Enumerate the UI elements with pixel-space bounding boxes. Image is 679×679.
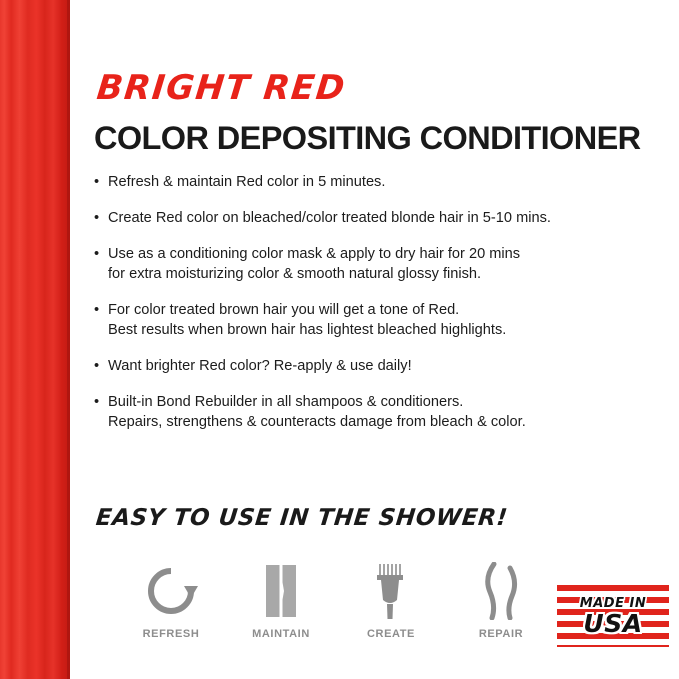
- bullet-dot-icon: •: [94, 392, 99, 412]
- bullet-line: for extra moisturizing color & smooth na…: [108, 264, 669, 284]
- usage-steps-row: REFRESH MAINTAIN: [94, 560, 534, 660]
- tint-brush-icon: [336, 560, 446, 622]
- list-item: • Create Red color on bleached/color tre…: [94, 208, 669, 228]
- usage-step-create: CREATE: [336, 560, 446, 640]
- list-item: • For color treated brown hair you will …: [94, 300, 669, 340]
- left-red-stripe-decoration: [0, 0, 70, 679]
- bullet-line: Use as a conditioning color mask & apply…: [108, 244, 669, 264]
- bullet-line: Built-in Bond Rebuilder in all shampoos …: [108, 392, 669, 412]
- usage-step-maintain: MAINTAIN: [226, 560, 336, 640]
- usage-step-label: REFRESH: [116, 628, 226, 640]
- product-info-panel: BRIGHT RED COLOR DEPOSITING CONDITIONER …: [0, 0, 679, 679]
- maintain-bottle-icon: [226, 560, 336, 622]
- bullet-line: For color treated brown hair you will ge…: [108, 300, 669, 320]
- feature-bullet-list: • Refresh & maintain Red color in 5 minu…: [94, 172, 669, 448]
- usage-step-label: MAINTAIN: [226, 628, 336, 640]
- bullet-dot-icon: •: [94, 208, 99, 228]
- bullet-line: Refresh & maintain Red color in 5 minute…: [108, 172, 669, 192]
- list-item: • Built-in Bond Rebuilder in all shampoo…: [94, 392, 669, 432]
- refresh-arrow-icon: [116, 560, 226, 622]
- bullet-dot-icon: •: [94, 172, 99, 192]
- bullet-dot-icon: •: [94, 356, 99, 376]
- list-item: • Want brighter Red color? Re-apply & us…: [94, 356, 669, 376]
- bullet-line: Want brighter Red color? Re-apply & use …: [108, 356, 669, 376]
- made-in-usa-badge: MADE IN USA: [557, 585, 669, 647]
- list-item: • Use as a conditioning color mask & app…: [94, 244, 669, 284]
- content-area: BRIGHT RED COLOR DEPOSITING CONDITIONER …: [94, 0, 679, 679]
- bullet-dot-icon: •: [94, 300, 99, 320]
- usa-flag-stripes-icon: [557, 585, 669, 647]
- bullet-dot-icon: •: [94, 244, 99, 264]
- bullet-line: Repairs, strengthens & counteracts damag…: [108, 412, 669, 432]
- usage-step-label: CREATE: [336, 628, 446, 640]
- usage-step-repair: REPAIR: [446, 560, 556, 640]
- product-title-main: COLOR DEPOSITING CONDITIONER: [94, 120, 641, 157]
- usage-step-label: REPAIR: [446, 628, 556, 640]
- bullet-line: Create Red color on bleached/color treat…: [108, 208, 669, 228]
- repair-hair-strand-icon: [446, 560, 556, 622]
- bullet-line: Best results when brown hair has lightes…: [108, 320, 669, 340]
- list-item: • Refresh & maintain Red color in 5 minu…: [94, 172, 669, 192]
- product-title-accent: BRIGHT RED: [95, 68, 348, 108]
- usage-heading: EASY TO USE IN THE SHOWER!: [95, 505, 509, 531]
- usage-step-refresh: REFRESH: [116, 560, 226, 640]
